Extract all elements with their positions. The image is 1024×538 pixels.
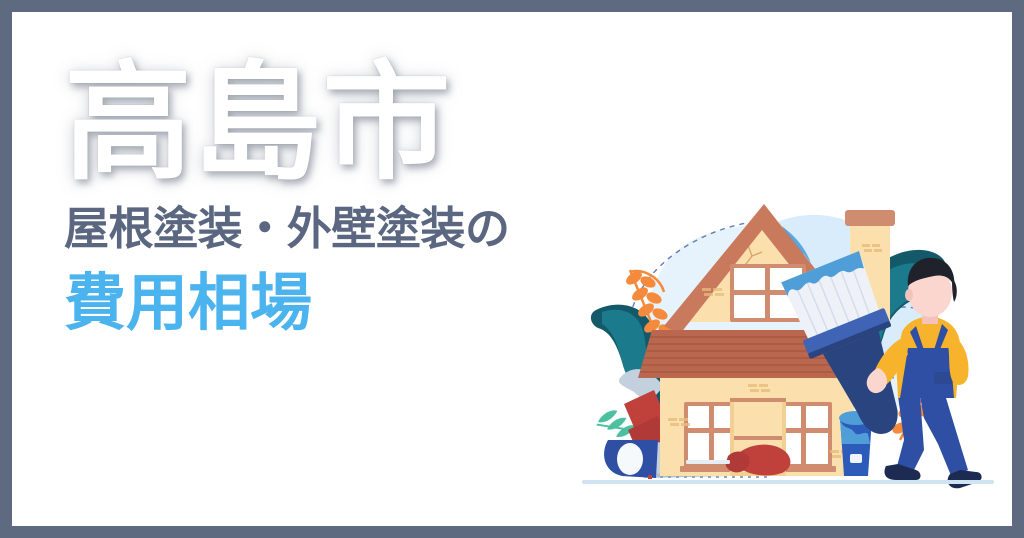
cost-headline: 費用相場 — [64, 267, 624, 340]
banner: 高島市 屋根塗装・外壁塗装の 費用相場 — [0, 0, 1024, 538]
banner-inner-panel: 高島市 屋根塗装・外壁塗装の 費用相場 — [12, 12, 1012, 526]
page-title: 高島市 — [64, 60, 624, 188]
subtitle: 屋根塗装・外壁塗装の — [64, 202, 624, 257]
house-painting-illustration — [568, 182, 1008, 512]
ground-line — [582, 480, 994, 484]
headline-text-block: 高島市 屋根塗装・外壁塗装の 費用相場 — [64, 60, 624, 340]
